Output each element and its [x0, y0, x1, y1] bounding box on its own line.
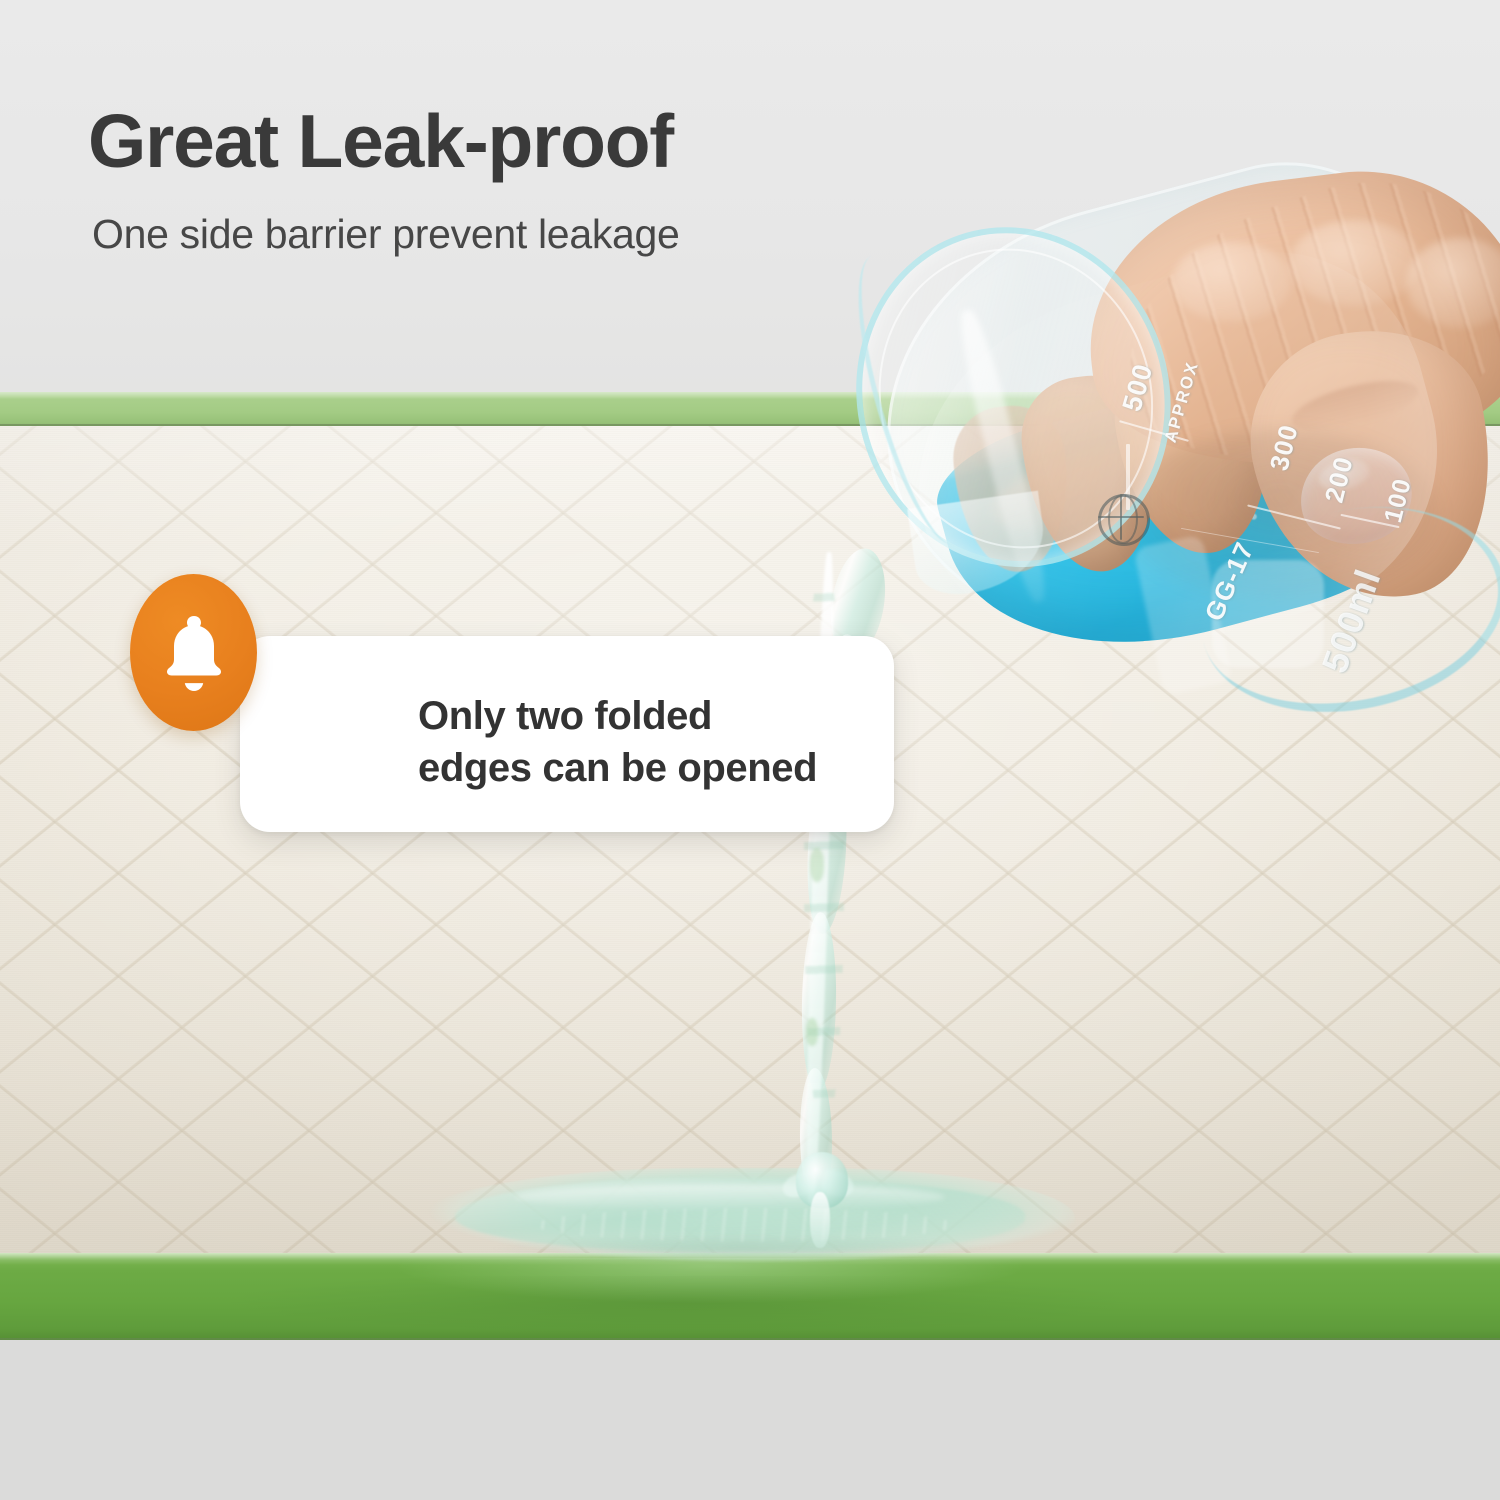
beaker-label-patch	[1212, 560, 1324, 668]
stream-impact-splash	[756, 1152, 886, 1242]
globe-icon	[1098, 494, 1150, 546]
stream-refraction	[806, 1018, 818, 1046]
callout-label: Only two folded edges can be opened	[418, 690, 888, 794]
knuckle-highlight	[1290, 220, 1420, 306]
stream-refraction	[810, 848, 824, 882]
contained-puddle	[415, 1168, 1075, 1266]
page-title: Great Leak-proof	[88, 104, 673, 179]
page-subtitle: One side barrier prevent leakage	[92, 214, 680, 255]
puddle-edge-shadow	[427, 1228, 1057, 1262]
knuckle-highlight	[1172, 242, 1292, 322]
background-footer	[0, 1340, 1500, 1500]
bell-icon	[162, 614, 226, 692]
callout-badge	[130, 574, 257, 731]
splash-neck	[810, 1192, 830, 1248]
product-feature-image: 500 APPROX 300 200 100 GG-17 500ml Great…	[0, 0, 1500, 1500]
globe-meridian	[1108, 494, 1138, 544]
barrier-edge-near-wet-area	[230, 1276, 1130, 1334]
